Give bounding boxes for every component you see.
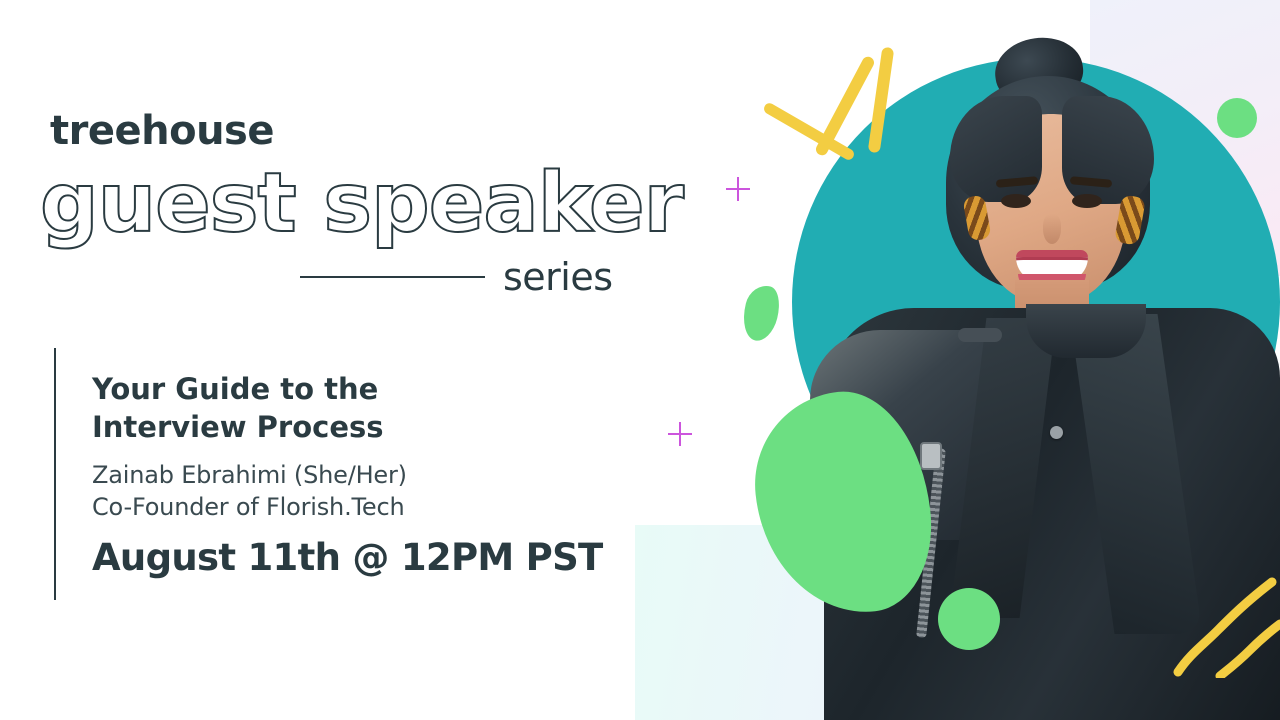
green-circle-bottom-shape xyxy=(938,588,1000,650)
promo-slide: treehouse guest speaker series Your Guid… xyxy=(0,0,1280,720)
portrait-eye-right xyxy=(1072,194,1102,208)
brand-wordmark: treehouse xyxy=(50,108,274,154)
portrait-eye-left xyxy=(1001,194,1031,208)
talk-title-line-1: Your Guide to the xyxy=(92,372,378,406)
green-blob-small-shape xyxy=(738,282,785,345)
portrait-hair-front-right xyxy=(1062,96,1154,204)
portrait-nose xyxy=(1043,214,1061,244)
talk-title-line-2: Interview Process xyxy=(92,410,384,444)
portrait-jacket-stud xyxy=(1050,426,1063,439)
series-word: series xyxy=(503,255,613,299)
details-accent-bar xyxy=(54,348,56,600)
portrait-jacket-collar xyxy=(1026,304,1146,358)
speaker-name: Zainab Ebrahimi (She/Her) xyxy=(92,461,407,489)
talk-title: Your Guide to the Interview Process xyxy=(92,370,512,447)
headline-outline-text: guest speaker xyxy=(40,163,683,245)
speaker-role: Co-Founder of Florish.Tech xyxy=(92,493,404,521)
wavy-line-icon xyxy=(1168,568,1280,678)
plus-mark-icon xyxy=(668,422,692,446)
event-datetime: August 11th @ 12PM PST xyxy=(92,536,603,579)
series-divider-rule xyxy=(300,276,485,278)
plus-mark-icon xyxy=(726,177,750,201)
portrait-jacket-snap xyxy=(958,328,1002,342)
series-row: series xyxy=(300,253,630,301)
portrait-jacket-zipper-pull xyxy=(920,442,942,470)
